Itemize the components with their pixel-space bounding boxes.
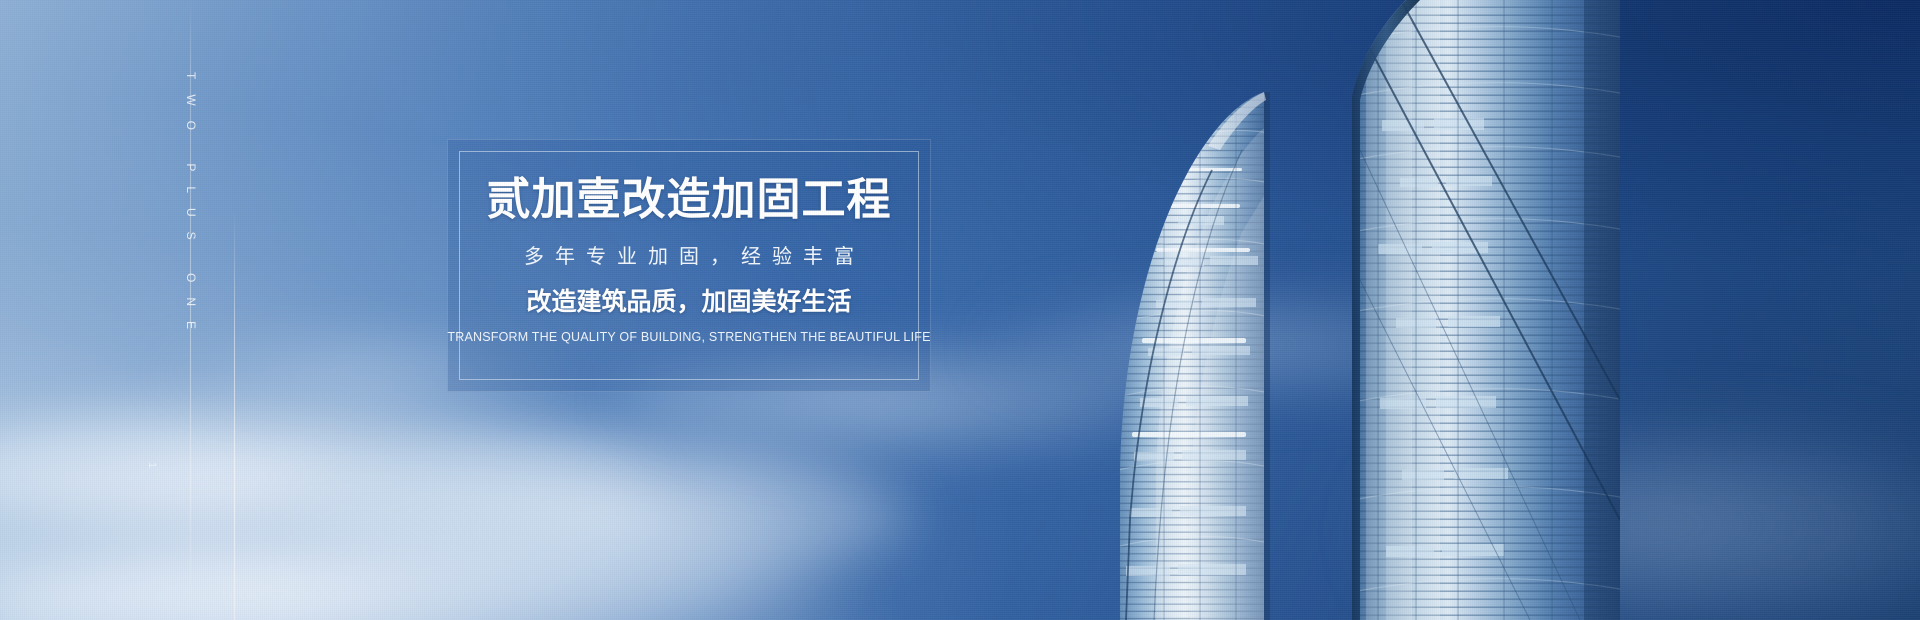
hero-panel-content: 贰加壹改造加固工程 多年专业加固，经验丰富 改造建筑品质，加固美好生活 TRAN…	[448, 140, 930, 391]
tower-back	[1340, 0, 1640, 620]
vertical-slide-number: 1	[146, 462, 158, 470]
skyscraper-illustration	[1060, 0, 1920, 620]
hero-banner: TWO PLUS ONE 1 贰加壹改造加固工程 多年专业加固，经验丰富 改造建…	[0, 0, 1920, 620]
hero-headline: 贰加壹改造加固工程	[487, 178, 892, 222]
tower-front	[1110, 80, 1280, 620]
tower-front-edge	[1264, 92, 1270, 620]
hero-english-caption: TRANSFORM THE QUALITY OF BUILDING, STREN…	[447, 331, 930, 344]
vertical-brand-text: TWO PLUS ONE	[184, 72, 198, 344]
hero-tagline: 改造建筑品质，加固美好生活	[526, 290, 851, 315]
brand-divider-line-secondary	[234, 210, 235, 620]
hero-subtitle: 多年专业加固，经验丰富	[513, 247, 865, 267]
hero-text-panel: 贰加壹改造加固工程 多年专业加固，经验丰富 改造建筑品质，加固美好生活 TRAN…	[447, 139, 931, 392]
